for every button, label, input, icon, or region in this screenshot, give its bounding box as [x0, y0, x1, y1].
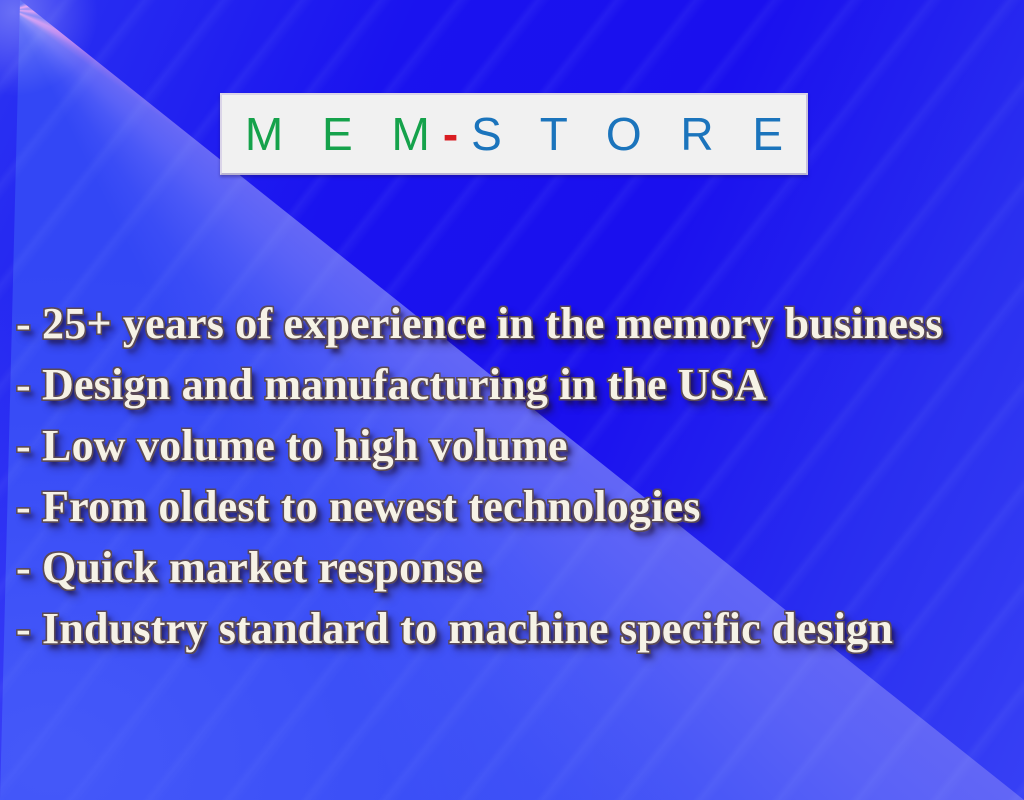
bullet-item: - Quick market response	[16, 537, 1016, 598]
logo-text-store: S T O R E	[471, 108, 796, 160]
bullet-item: - Low volume to high volume	[16, 415, 1016, 476]
logo-text: M E M-S T O R E	[232, 111, 796, 157]
bullet-item: - From oldest to newest technologies	[16, 476, 1016, 537]
presentation-slide: M E M-S T O R E - 25+ years of experienc…	[0, 0, 1024, 800]
logo-text-mem: M E M	[245, 108, 443, 160]
bullet-item: - 25+ years of experience in the memory …	[16, 293, 1016, 354]
bullet-list: - 25+ years of experience in the memory …	[16, 293, 1016, 659]
bullet-item: - Industry standard to machine specific …	[16, 598, 1016, 659]
logo-box: M E M-S T O R E	[220, 93, 808, 175]
bullet-item: - Design and manufacturing in the USA	[16, 354, 1016, 415]
logo-text-separator: -	[443, 108, 471, 160]
